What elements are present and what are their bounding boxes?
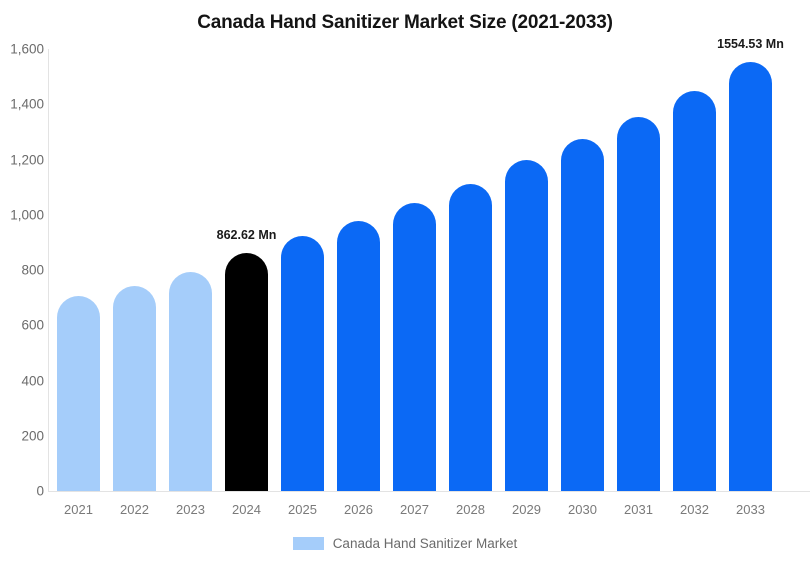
bar-2021[interactable] <box>57 296 100 491</box>
y-axis-tick-1200: 1,200 <box>0 152 44 167</box>
bar-2030[interactable] <box>561 139 604 491</box>
x-axis-tick-2032: 2032 <box>673 502 716 517</box>
bar-2023[interactable] <box>169 272 212 491</box>
chart-legend: Canada Hand Sanitizer Market <box>0 536 810 551</box>
bar-2026[interactable] <box>337 221 380 491</box>
y-axis-tick-200: 200 <box>0 428 44 443</box>
x-axis-line <box>48 491 810 492</box>
bar-2024[interactable] <box>225 253 268 491</box>
chart-title: Canada Hand Sanitizer Market Size (2021-… <box>0 12 810 34</box>
bar-value-label-2024: 862.62 Mn <box>217 228 277 242</box>
bar-2022[interactable] <box>113 286 156 491</box>
bar-value-label-2033: 1554.53 Mn <box>717 37 784 51</box>
x-axis-tick-2027: 2027 <box>393 502 436 517</box>
x-axis-tick-2030: 2030 <box>561 502 604 517</box>
x-axis-tick-2022: 2022 <box>113 502 156 517</box>
chart-container: Canada Hand Sanitizer Market Size (2021-… <box>0 0 810 562</box>
x-axis-tick-2028: 2028 <box>449 502 492 517</box>
bar-2027[interactable] <box>393 203 436 491</box>
x-axis-tick-2029: 2029 <box>505 502 548 517</box>
y-axis-tick-400: 400 <box>0 373 44 388</box>
bar-2032[interactable] <box>673 91 716 491</box>
bar-2028[interactable] <box>449 184 492 491</box>
x-axis-tick-2031: 2031 <box>617 502 660 517</box>
x-axis-tick-2025: 2025 <box>281 502 324 517</box>
x-axis-tick-2033: 2033 <box>729 502 772 517</box>
y-axis-tick-0: 0 <box>0 484 44 499</box>
y-axis-tick-800: 800 <box>0 263 44 278</box>
x-axis-tick-2026: 2026 <box>337 502 380 517</box>
x-axis-tick-2024: 2024 <box>225 502 268 517</box>
y-axis-tick-1400: 1,400 <box>0 97 44 112</box>
legend-label-canada-hand-sanitizer-market: Canada Hand Sanitizer Market <box>333 536 518 551</box>
y-axis-tick-labels: 1,6001,4001,2001,0008006004002000 <box>0 0 44 562</box>
y-axis-tick-1600: 1,600 <box>0 42 44 57</box>
x-axis-tick-2021: 2021 <box>57 502 100 517</box>
y-axis-tick-600: 600 <box>0 318 44 333</box>
bar-2029[interactable] <box>505 160 548 491</box>
bar-2033[interactable] <box>729 62 772 491</box>
plot-area <box>48 49 810 491</box>
y-axis-tick-1000: 1,000 <box>0 207 44 222</box>
bar-2031[interactable] <box>617 117 660 491</box>
legend-swatch-canada-hand-sanitizer-market <box>293 537 324 550</box>
x-axis-tick-2023: 2023 <box>169 502 212 517</box>
bar-2025[interactable] <box>281 236 324 491</box>
